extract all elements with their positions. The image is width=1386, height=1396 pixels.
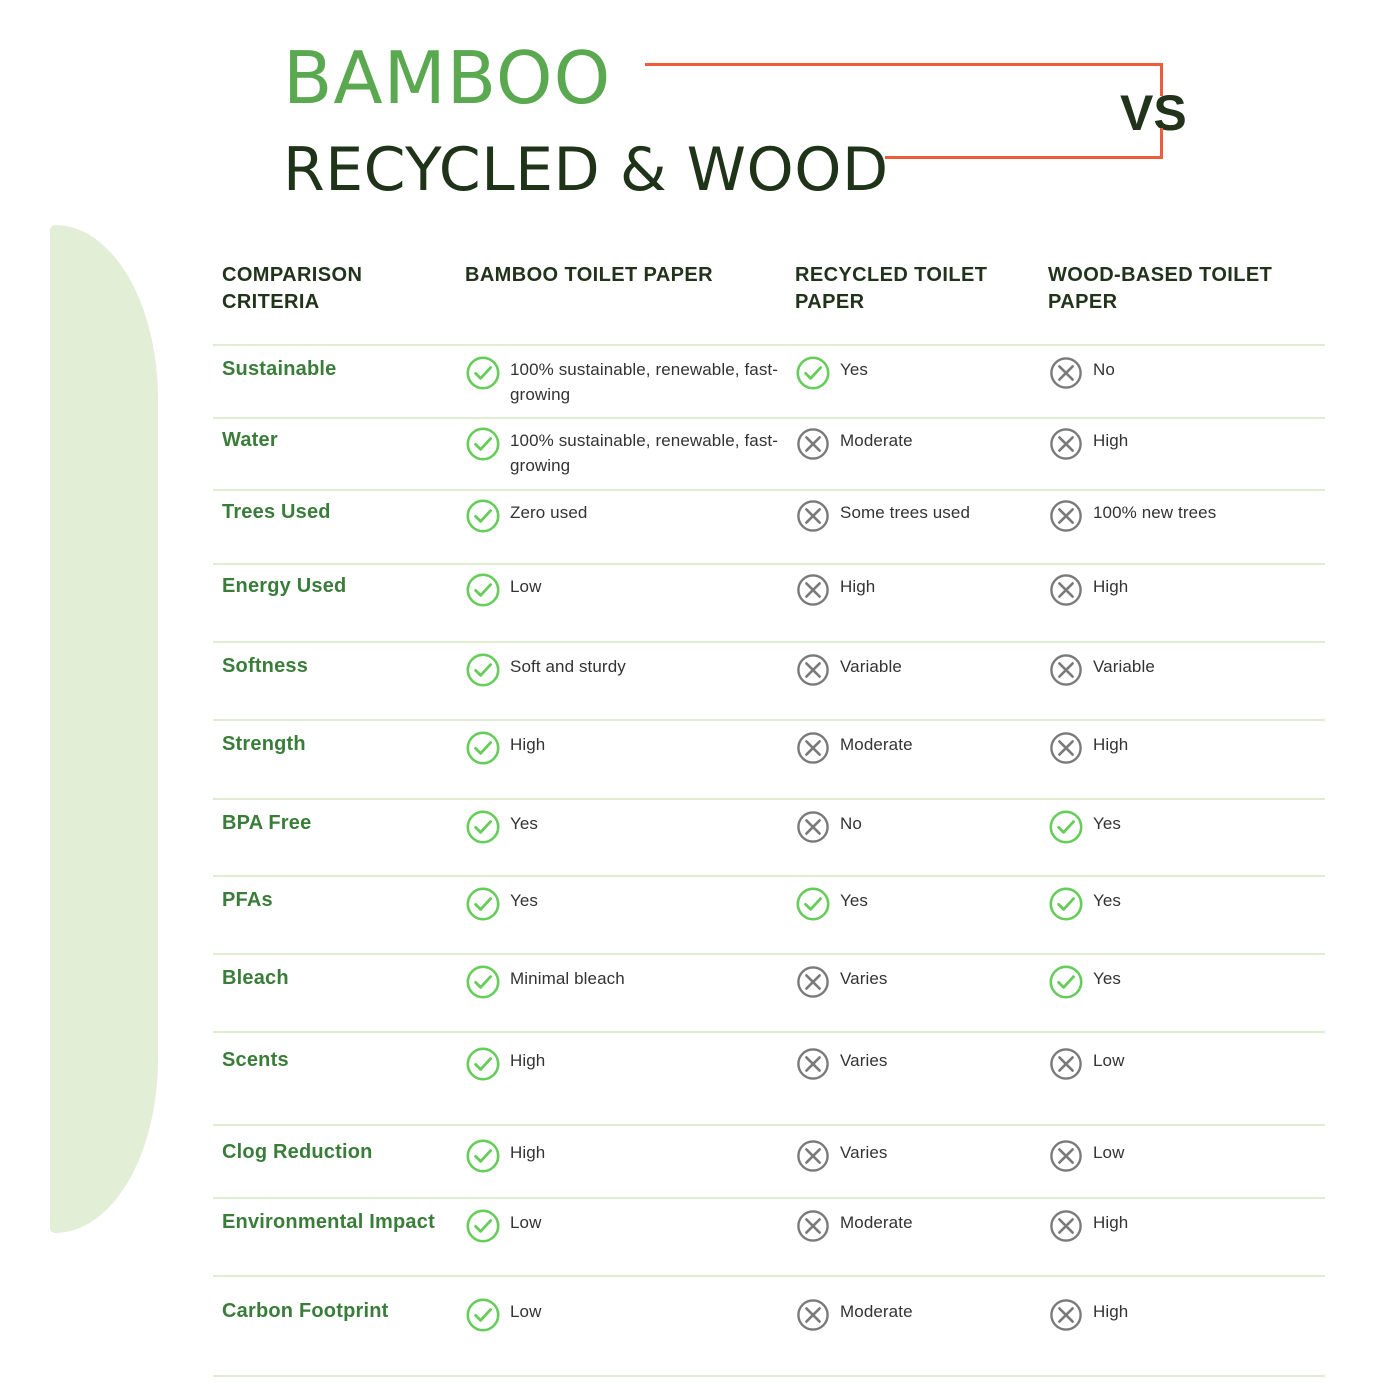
header-label: COMPARISON CRITERIA [222,262,452,316]
cell-text: High [1093,426,1128,454]
cell-text: Yes [840,355,868,383]
table-row: Softness [222,652,452,681]
cell-bamboo: 100% sustainable, renewable, fast-growin… [465,355,785,407]
cell-recycled: High [795,572,1040,608]
cell-text: Varies [840,1138,888,1166]
cross-icon [795,809,831,845]
table-header-wood: WOOD-BASED TOILET PAPER [1048,262,1328,342]
table-row: Trees Used [222,498,452,527]
criteria-label: Sustainable [222,355,452,384]
cell-recycled: Moderate [795,1208,1040,1244]
row-divider [213,1375,1325,1377]
bracket-bottom-line [885,156,1163,159]
table-row: PFAs [222,886,452,915]
cell-text: Soft and sturdy [510,652,626,680]
row-divider [213,417,1325,419]
cell-text: Variable [840,652,902,680]
row-divider [213,1197,1325,1199]
cross-icon [795,1208,831,1244]
bracket-top-line [645,63,1163,66]
check-icon [1048,809,1084,845]
row-divider [213,563,1325,565]
check-icon [1048,886,1084,922]
cell-text: High [1093,572,1128,600]
cell-wood: High [1048,730,1328,766]
table-header-recycled: RECYCLED TOILET PAPER [795,262,1040,342]
row-divider [213,798,1325,800]
cell-text: Yes [1093,886,1121,914]
cell-bamboo: Low [465,1208,785,1244]
check-icon [1048,964,1084,1000]
cell-text: Varies [840,1046,888,1074]
criteria-label: Scents [222,1046,452,1075]
cell-bamboo: Yes [465,809,785,845]
cell-text: Minimal bleach [510,964,625,992]
cell-text: Yes [1093,809,1121,837]
table-row: Water [222,426,452,455]
table-row: Energy Used [222,572,452,601]
cross-icon [1048,426,1084,462]
criteria-label: Carbon Footprint [222,1297,452,1326]
check-icon [465,498,501,534]
check-icon [465,886,501,922]
cross-icon [1048,498,1084,534]
cell-bamboo: Minimal bleach [465,964,785,1000]
criteria-label: Strength [222,730,452,759]
cross-icon [1048,652,1084,688]
cell-recycled: No [795,809,1040,845]
cell-text: Moderate [840,1208,913,1236]
header-label: BAMBOO TOILET PAPER [465,262,785,289]
row-divider [213,489,1325,491]
cell-text: Moderate [840,1297,913,1325]
cell-recycled: Yes [795,355,1040,391]
table-row: Bleach [222,964,452,993]
check-icon [795,886,831,922]
cross-icon [1048,355,1084,391]
bracket-vertical-upper [1160,63,1163,96]
decorative-blob [50,225,158,1233]
cross-icon [795,1138,831,1174]
cell-text: High [1093,1297,1128,1325]
cell-text: Low [510,572,542,600]
cross-icon [795,572,831,608]
cell-text: Low [1093,1046,1125,1074]
check-icon [465,652,501,688]
criteria-label: Softness [222,652,452,681]
cell-recycled: Variable [795,652,1040,688]
check-icon [465,1138,501,1174]
check-icon [465,572,501,608]
cell-text: Moderate [840,730,913,758]
cell-recycled: Yes [795,886,1040,922]
cell-recycled: Moderate [795,426,1040,462]
criteria-label: Clog Reduction [222,1138,452,1167]
cell-recycled: Varies [795,964,1040,1000]
table-row: Strength [222,730,452,759]
row-divider [213,344,1325,346]
cross-icon [795,498,831,534]
row-divider [213,953,1325,955]
cell-bamboo: Low [465,1297,785,1333]
cross-icon [1048,1138,1084,1174]
cross-icon [795,730,831,766]
row-divider [213,719,1325,721]
cell-bamboo: Yes [465,886,785,922]
cell-wood: Variable [1048,652,1328,688]
row-divider [213,1275,1325,1277]
cell-bamboo: Zero used [465,498,785,534]
check-icon [465,964,501,1000]
cell-recycled: Varies [795,1046,1040,1082]
cell-text: High [510,1138,545,1166]
check-icon [465,1297,501,1333]
row-divider [213,875,1325,877]
cell-text: Yes [1093,964,1121,992]
cell-wood: 100% new trees [1048,498,1328,534]
cross-icon [1048,1297,1084,1333]
cross-icon [795,426,831,462]
cell-text: High [510,730,545,758]
criteria-label: Environmental Impact [222,1208,452,1237]
cell-text: Some trees used [840,498,970,526]
cell-recycled: Moderate [795,1297,1040,1333]
cell-bamboo: High [465,730,785,766]
cell-text: No [840,809,862,837]
cross-icon [795,652,831,688]
check-icon [465,355,501,391]
cell-wood: High [1048,1297,1328,1333]
cell-recycled: Varies [795,1138,1040,1174]
cell-wood: Low [1048,1138,1328,1174]
criteria-label: BPA Free [222,809,452,838]
cell-text: Low [510,1297,542,1325]
cell-text: Yes [510,886,538,914]
cell-text: 100% new trees [1093,498,1216,526]
cell-recycled: Some trees used [795,498,1040,534]
cell-text: Zero used [510,498,587,526]
cross-icon [795,964,831,1000]
criteria-label: Energy Used [222,572,452,601]
cell-text: Varies [840,964,888,992]
cell-text: Variable [1093,652,1155,680]
cell-text: Low [1093,1138,1125,1166]
cell-text: Moderate [840,426,913,454]
cell-wood: Yes [1048,809,1328,845]
check-icon [465,809,501,845]
cell-wood: High [1048,1208,1328,1244]
criteria-label: Trees Used [222,498,452,527]
title-block: BAMBOO RECYCLED & WOOD VS [0,0,1386,215]
cell-bamboo: Soft and sturdy [465,652,785,688]
cell-text: Yes [510,809,538,837]
cell-recycled: Moderate [795,730,1040,766]
table-row: Carbon Footprint [222,1297,452,1326]
cell-bamboo: High [465,1046,785,1082]
cell-wood: High [1048,572,1328,608]
cell-text: Low [510,1208,542,1236]
check-icon [465,730,501,766]
infographic-page: BAMBOO RECYCLED & WOOD VS COMPARISON CRI… [0,0,1386,1396]
cell-text: High [1093,1208,1128,1236]
check-icon [465,426,501,462]
cross-icon [1048,1208,1084,1244]
row-divider [213,1124,1325,1126]
cross-icon [1048,572,1084,608]
criteria-label: Bleach [222,964,452,993]
bracket-vertical-lower [1160,128,1163,159]
table-row: BPA Free [222,809,452,838]
cell-bamboo: High [465,1138,785,1174]
cell-wood: Low [1048,1046,1328,1082]
table-row: Clog Reduction [222,1138,452,1167]
cell-text: High [510,1046,545,1074]
cross-icon [795,1297,831,1333]
title-bamboo: BAMBOO [283,42,611,114]
title-recycled-wood: RECYCLED & WOOD [283,140,889,200]
table-row: Sustainable [222,355,452,384]
row-divider [213,1031,1325,1033]
cell-wood: Yes [1048,886,1328,922]
table-header-bamboo: BAMBOO TOILET PAPER [465,262,785,342]
table-header-criteria: COMPARISON CRITERIA [222,262,452,342]
header-label: WOOD-BASED TOILET PAPER [1048,262,1328,316]
cell-bamboo: Low [465,572,785,608]
row-divider [213,641,1325,643]
table-row: Scents [222,1046,452,1075]
header-label: RECYCLED TOILET PAPER [795,262,1040,316]
cell-wood: Yes [1048,964,1328,1000]
cell-text: 100% sustainable, renewable, fast-growin… [510,426,785,478]
cell-wood: No [1048,355,1328,391]
table-row: Environmental Impact [222,1208,452,1237]
cell-text: 100% sustainable, renewable, fast-growin… [510,355,785,407]
cross-icon [795,1046,831,1082]
cross-icon [1048,730,1084,766]
criteria-label: PFAs [222,886,452,915]
cell-text: High [840,572,875,600]
cell-text: No [1093,355,1115,383]
vs-label: VS [1120,88,1187,138]
cell-wood: High [1048,426,1328,462]
cell-text: High [1093,730,1128,758]
check-icon [465,1208,501,1244]
check-icon [795,355,831,391]
check-icon [465,1046,501,1082]
cell-bamboo: 100% sustainable, renewable, fast-growin… [465,426,785,478]
cell-text: Yes [840,886,868,914]
cross-icon [1048,1046,1084,1082]
criteria-label: Water [222,426,452,455]
